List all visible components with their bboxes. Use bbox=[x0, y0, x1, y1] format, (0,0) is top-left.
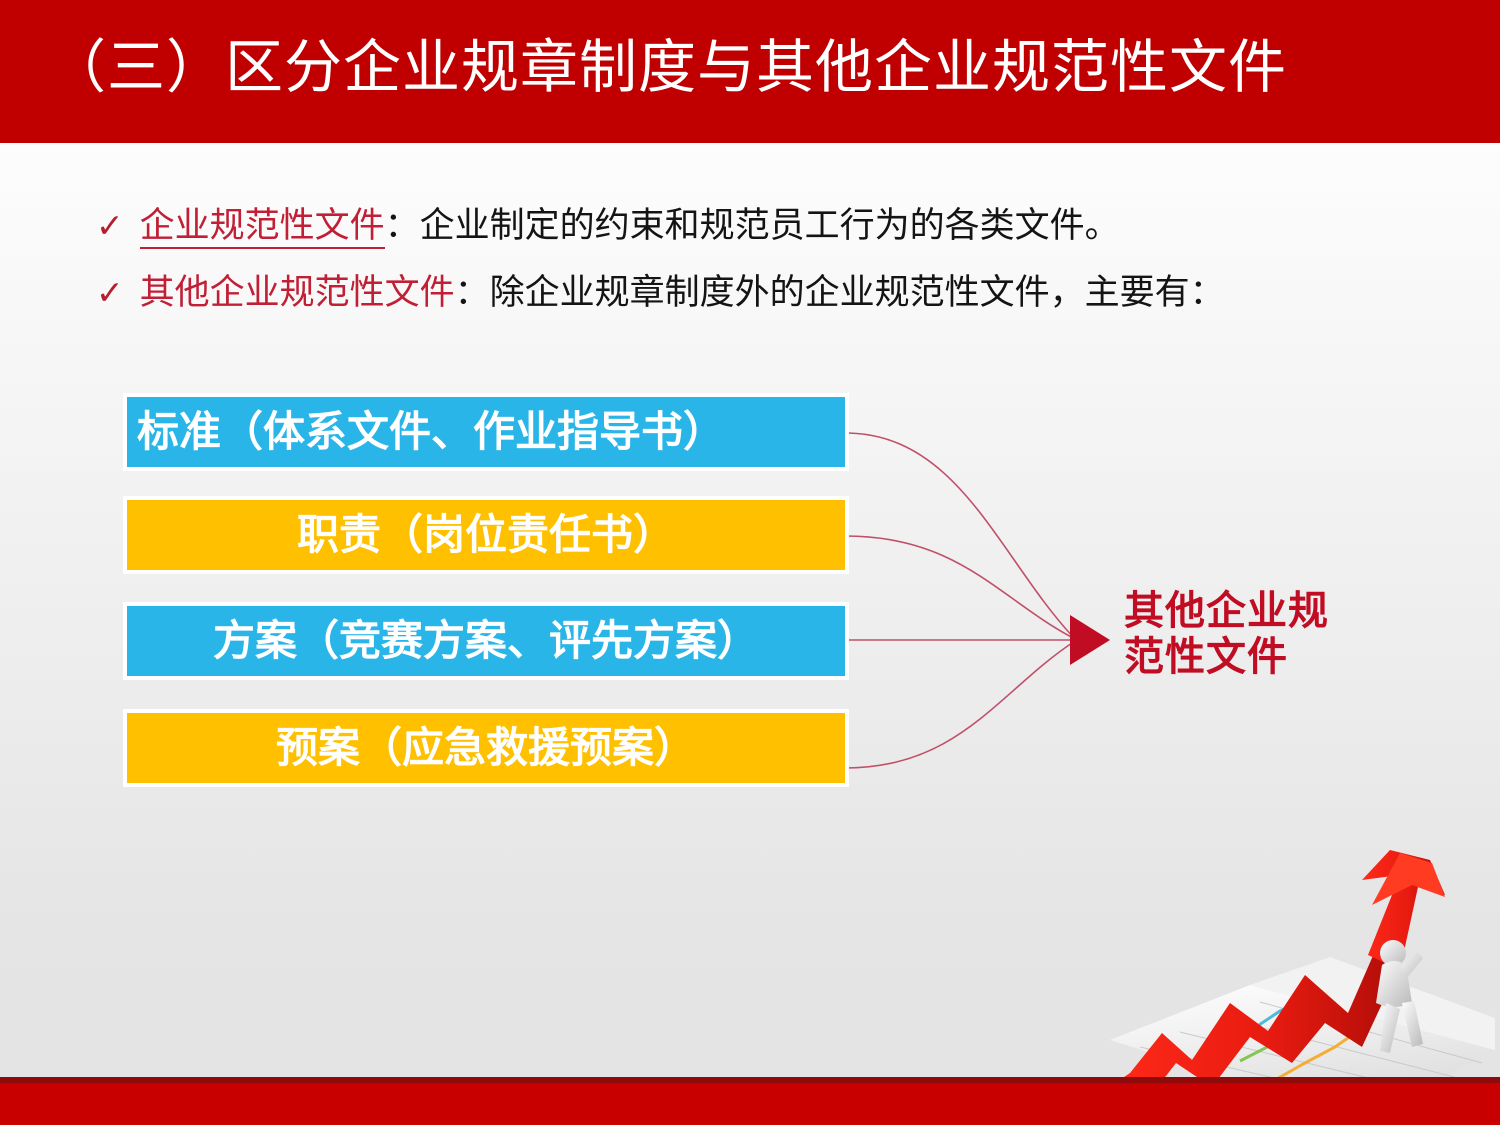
white-figure bbox=[1376, 940, 1423, 1053]
arrow-head-icon bbox=[1070, 615, 1110, 665]
callout-line-2: 范性文件 bbox=[1124, 634, 1364, 680]
bullet-item-1: ✓ 企业规范性文件：企业制定的约束和规范员工行为的各类文件。 bbox=[96, 203, 1120, 249]
slide-canvas: （三）区分企业规章制度与其他企业规范性文件 ✓ 企业规范性文件：企业制定的约束和… bbox=[0, 0, 1500, 1125]
diagram-bar-label: 预案（应急救援预案） bbox=[127, 713, 845, 783]
bullet-text-1: 企业规范性文件：企业制定的约束和规范员工行为的各类文件。 bbox=[140, 203, 1120, 249]
diagram-bar-plans[interactable]: 方案（竞赛方案、评先方案） bbox=[127, 606, 845, 676]
connector-line-1 bbox=[845, 433, 1075, 639]
diagram-bar-contingency[interactable]: 预案（应急救援预案） bbox=[127, 713, 845, 783]
bullet-item-2: ✓ 其他企业规范性文件：除企业规章制度外的企业规范性文件，主要有： bbox=[96, 270, 1225, 316]
bullet-keyword-2: 其他企业规范性文件 bbox=[140, 273, 455, 312]
bullet-keyword-1: 企业规范性文件 bbox=[140, 206, 385, 249]
checkmark-icon: ✓ bbox=[96, 271, 124, 315]
diagram-bar-label: 标准（体系文件、作业指导书） bbox=[127, 397, 845, 467]
bullet-text-2: 其他企业规范性文件：除企业规章制度外的企业规范性文件，主要有： bbox=[140, 270, 1225, 316]
connector-line-2 bbox=[845, 536, 1075, 639]
callout-line-1: 其他企业规 bbox=[1124, 588, 1364, 634]
bullet-rest-1: ：企业制定的约束和规范员工行为的各类文件。 bbox=[385, 206, 1120, 245]
diagram-bar-label: 职责（岗位责任书） bbox=[127, 500, 845, 570]
connector-line-4 bbox=[845, 641, 1075, 768]
title-bar: （三）区分企业规章制度与其他企业规范性文件 bbox=[0, 0, 1500, 143]
bottom-red-band bbox=[0, 1077, 1500, 1125]
diagram-bar-label: 方案（竞赛方案、评先方案） bbox=[127, 606, 845, 676]
diagram-bar-responsibilities[interactable]: 职责（岗位责任书） bbox=[127, 500, 845, 570]
checkmark-icon: ✓ bbox=[96, 204, 124, 248]
callout-label: 其他企业规 范性文件 bbox=[1124, 588, 1364, 680]
bullet-rest-2: ：除企业规章制度外的企业规范性文件，主要有： bbox=[455, 273, 1225, 312]
diagram-bar-standards[interactable]: 标准（体系文件、作业指导书） bbox=[127, 397, 845, 467]
page-title: （三）区分企业规章制度与其他企业规范性文件 bbox=[48, 28, 1287, 108]
